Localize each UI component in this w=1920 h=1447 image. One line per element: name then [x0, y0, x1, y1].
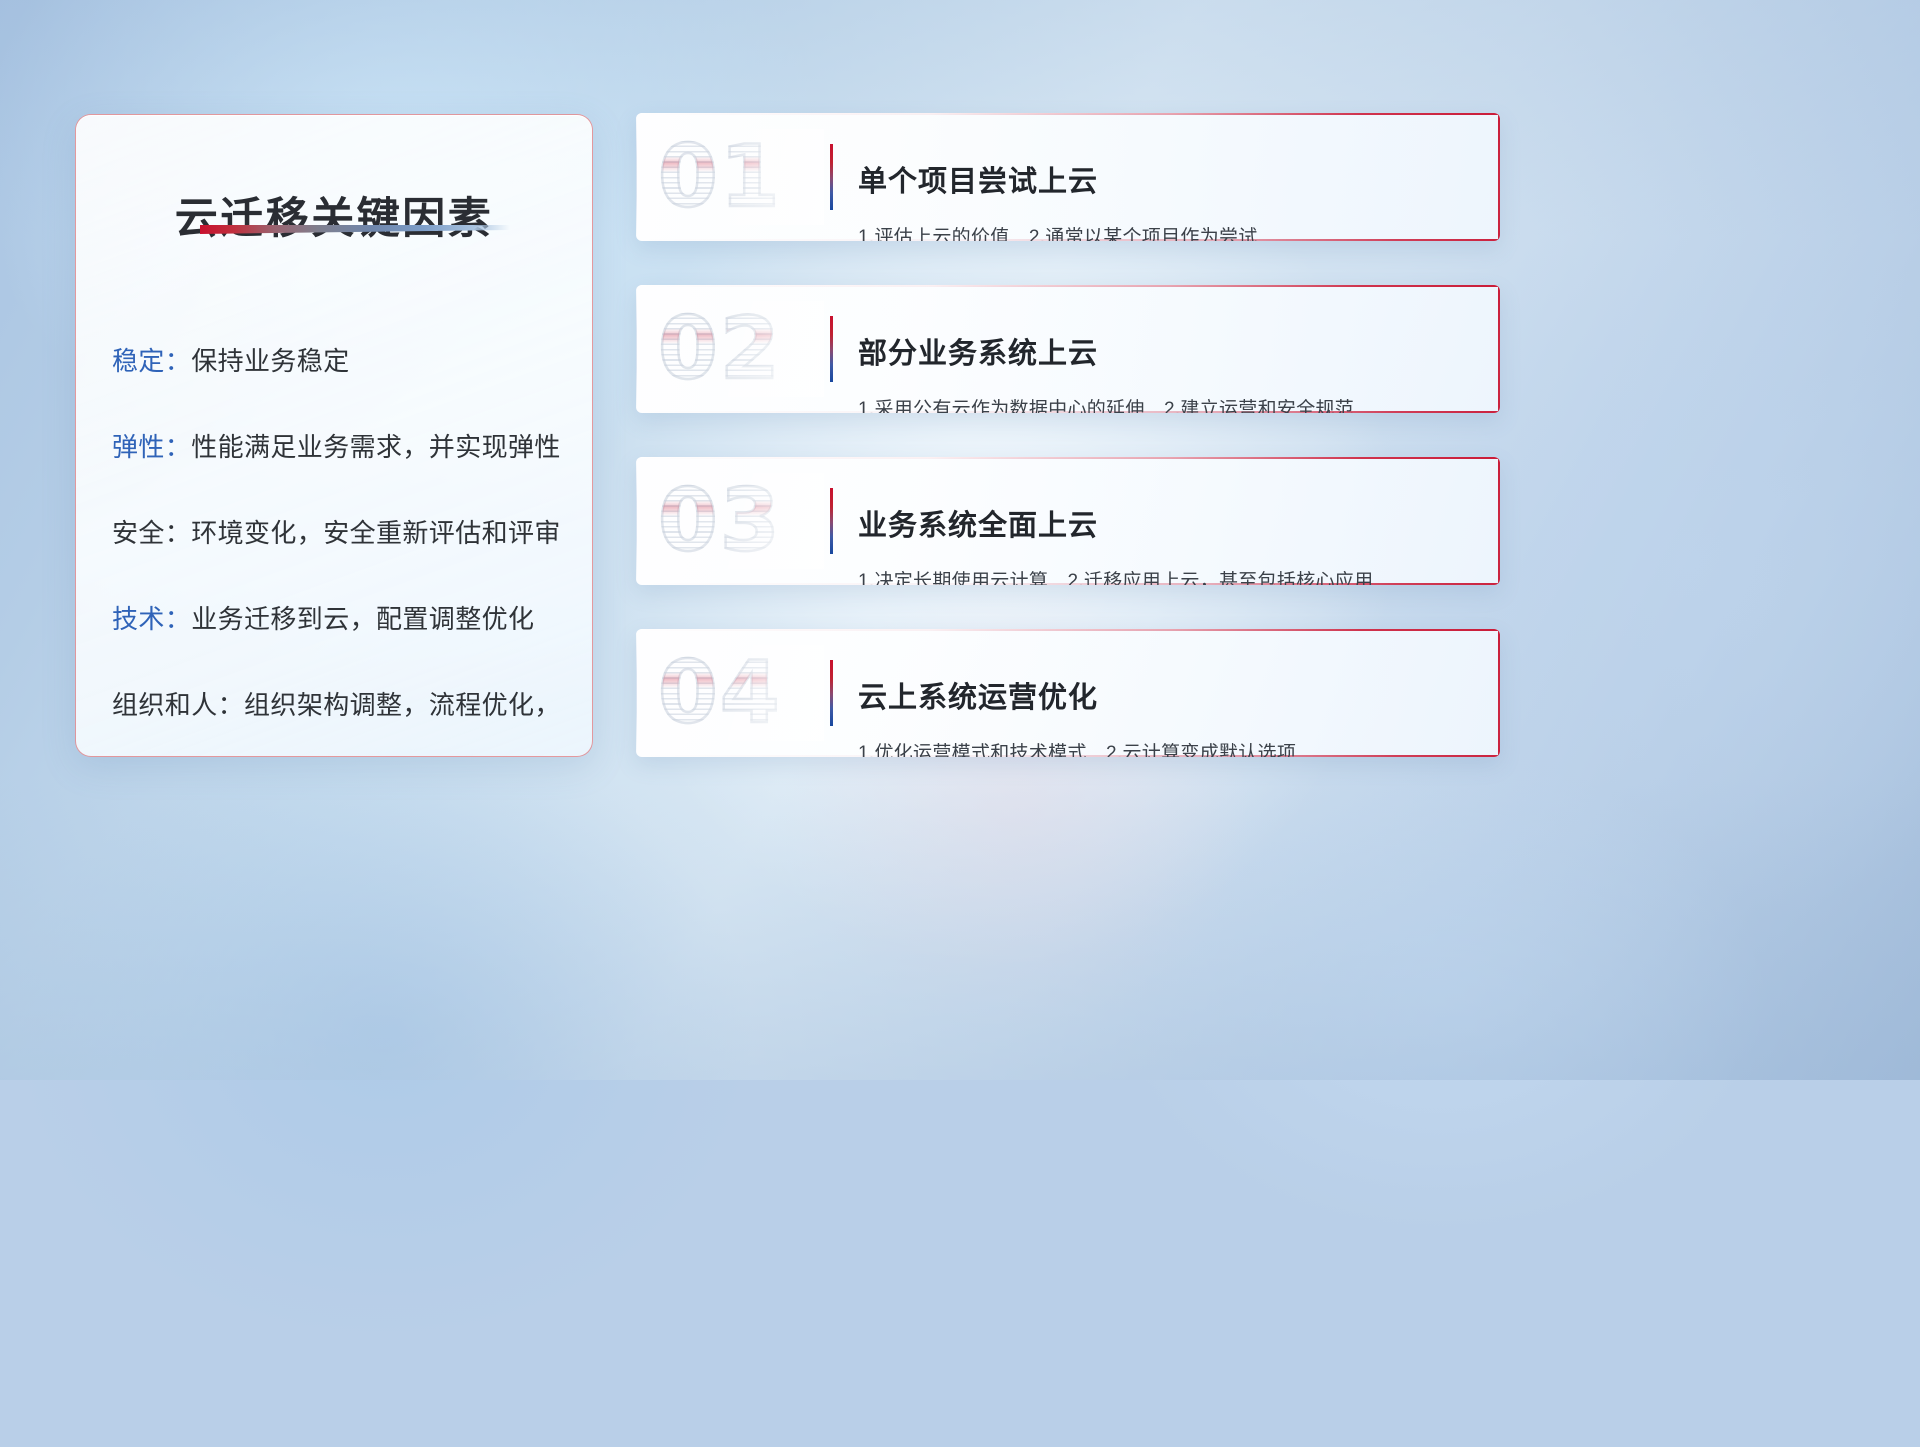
stage-subtitle: 1.采用公有云作为数据中心的延伸 2.建立运营和安全规范	[858, 397, 1476, 413]
stage-number-watermark: 03	[658, 478, 782, 564]
stage-card-02[interactable]: 02 02 部分业务系统上云 1.采用公有云作为数据中心的延伸 2.建立运营和安…	[636, 285, 1500, 413]
stage-number-watermark: 04	[658, 650, 782, 736]
list-item: 稳定：保持业务稳定	[112, 331, 568, 391]
card-right-accent-line	[1498, 113, 1500, 241]
key-factors-list: 稳定：保持业务稳定 弹性：性能满足业务需求，并实现弹性 安全：环境变化，安全重新…	[112, 305, 568, 757]
stage-text-block: 云上系统运营优化 1.优化运营模式和技术模式 2.云计算变成默认选项	[858, 655, 1476, 757]
stage-number-watermark: 01	[658, 134, 782, 220]
stage-card-03[interactable]: 03 03 业务系统全面上云 1.决定长期使用云计算 2.迁移应用上云，甚至包括…	[636, 457, 1500, 585]
list-item-label: 稳定：	[112, 346, 191, 376]
card-top-accent-line	[636, 629, 1500, 631]
list-item: 技术：业务迁移到云，配置调整优化	[112, 589, 568, 649]
stage-subtitle: 1.决定长期使用云计算 2.迁移应用上云，甚至包括核心应用	[858, 569, 1476, 585]
card-top-accent-line	[636, 113, 1500, 115]
stage-number-fade-mask	[654, 301, 824, 397]
card-top-accent-line	[636, 457, 1500, 459]
stage-text-block: 业务系统全面上云 1.决定长期使用云计算 2.迁移应用上云，甚至包括核心应用	[858, 483, 1476, 585]
card-top-accent-line	[636, 285, 1500, 287]
card-left-edge	[636, 629, 637, 757]
stage-divider-bar	[830, 316, 833, 382]
card-left-edge	[636, 285, 637, 413]
stage-title: 云上系统运营优化	[858, 679, 1476, 717]
stage-title: 业务系统全面上云	[858, 507, 1476, 545]
stage-title: 单个项目尝试上云	[858, 163, 1476, 201]
stage-number-red-tint: 04	[658, 650, 782, 736]
list-item-label: 安全：	[112, 518, 191, 548]
list-item-label: 组织和人：	[112, 690, 244, 720]
stage-card-01[interactable]: 01 01 单个项目尝试上云 1.评估上云的价值 2.通常以某个项目作为尝试	[636, 113, 1500, 241]
slide-stage: 云迁移关键因素 稳定：保持业务稳定 弹性：性能满足业务需求，并实现弹性 安全：环…	[0, 0, 1920, 1080]
page-title: 云迁移关键因素	[76, 184, 592, 246]
list-item: 安全：环境变化，安全重新评估和评审	[112, 503, 568, 563]
stage-number-fade-mask	[654, 645, 824, 741]
stage-card-04[interactable]: 04 04 云上系统运营优化 1.优化运营模式和技术模式 2.云计算变成默认选项	[636, 629, 1500, 757]
list-item-text: 环境变化，安全重新评估和评审	[191, 518, 561, 548]
stage-number-red-tint: 01	[658, 134, 782, 220]
list-item: 组织和人：组织架构调整，流程优化，	[112, 675, 568, 735]
stage-number-red-tint: 03	[658, 478, 782, 564]
list-item-text: 业务迁移到云，配置调整优化	[191, 604, 534, 634]
card-left-edge	[636, 457, 637, 585]
stage-number-fade-mask	[654, 473, 824, 569]
stage-divider-bar	[830, 488, 833, 554]
stage-number-watermark: 02	[658, 306, 782, 392]
card-left-edge	[636, 113, 637, 241]
list-item-text: 组织架构调整，流程优化，	[244, 690, 561, 720]
stage-title: 部分业务系统上云	[858, 335, 1476, 373]
stage-number-red-tint: 02	[658, 306, 782, 392]
stage-subtitle: 1.评估上云的价值 2.通常以某个项目作为尝试	[858, 225, 1476, 241]
list-item-text: 性能满足业务需求，并实现弹性	[191, 432, 561, 462]
key-factors-panel: 云迁移关键因素 稳定：保持业务稳定 弹性：性能满足业务需求，并实现弹性 安全：环…	[75, 114, 593, 757]
stage-subtitle: 1.优化运营模式和技术模式 2.云计算变成默认选项	[858, 741, 1476, 757]
stage-divider-bar	[830, 144, 833, 210]
list-item: 弹性：性能满足业务需求，并实现弹性	[112, 417, 568, 477]
list-item-text: 保持业务稳定	[191, 346, 349, 376]
list-item-label: 弹性：	[112, 432, 191, 462]
card-right-accent-line	[1498, 629, 1500, 757]
stage-divider-bar	[830, 660, 833, 726]
card-right-accent-line	[1498, 457, 1500, 585]
list-item-label: 技术：	[112, 604, 191, 634]
card-right-accent-line	[1498, 285, 1500, 413]
stage-number-fade-mask	[654, 129, 824, 225]
stage-text-block: 部分业务系统上云 1.采用公有云作为数据中心的延伸 2.建立运营和安全规范	[858, 311, 1476, 413]
migration-stages-list: 01 01 单个项目尝试上云 1.评估上云的价值 2.通常以某个项目作为尝试 0…	[636, 113, 1500, 757]
stage-text-block: 单个项目尝试上云 1.评估上云的价值 2.通常以某个项目作为尝试	[858, 139, 1476, 241]
